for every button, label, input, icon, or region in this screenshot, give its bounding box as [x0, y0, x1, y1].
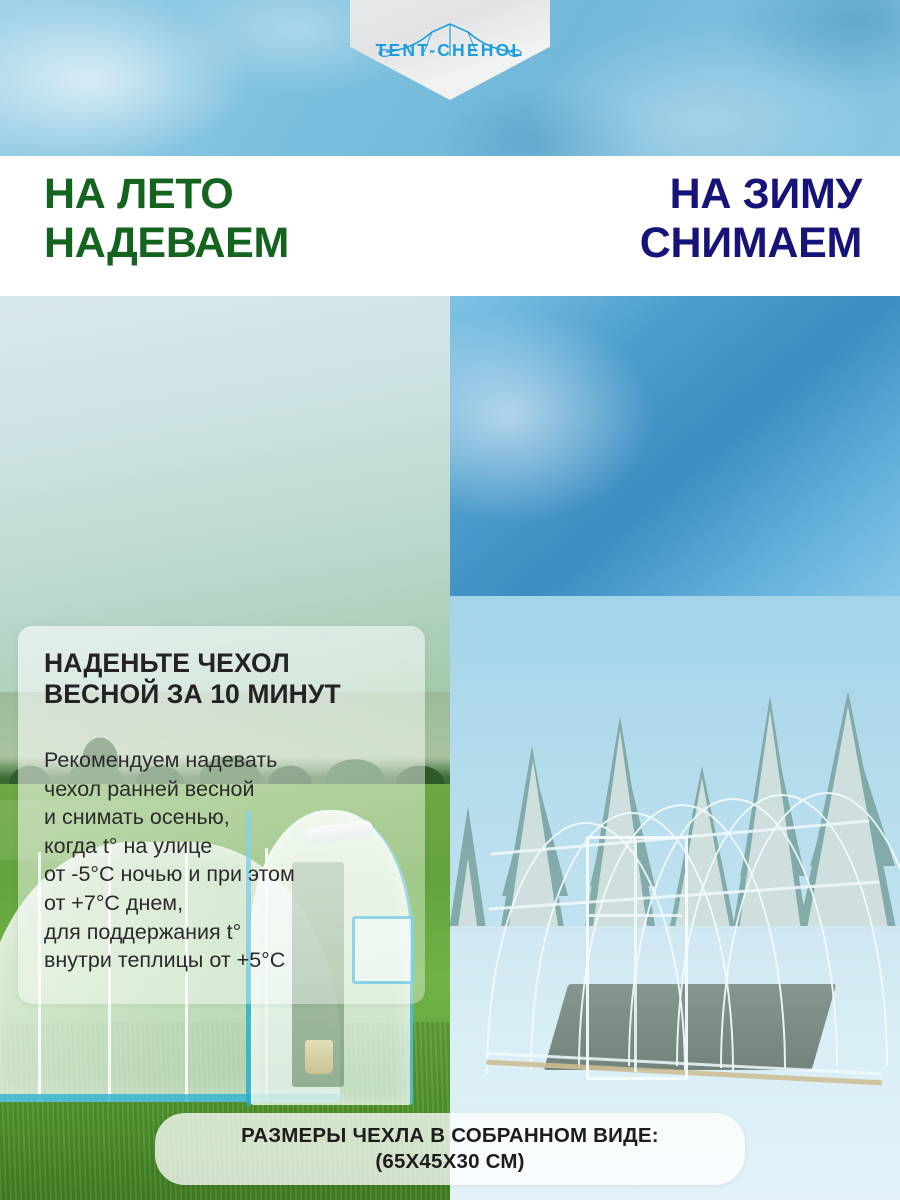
logo: TENT-CHEHOL	[350, 0, 550, 100]
panel-winter: ДЕМОНТИРУЙТЕ НА ЗИМУ Чистка снега с чехл…	[450, 296, 900, 1200]
title-summer-line2: НАДЕВАЕМ	[44, 219, 434, 268]
summer-body-line: когда t° на улице	[44, 832, 414, 861]
photo-winter-greenhouse-frame	[450, 596, 900, 1200]
card-summer-heading-line2: ВЕСНОЙ ЗА 10 МИНУТ	[44, 679, 404, 710]
summer-body-line: от -5°С ночью и при этом	[44, 860, 414, 889]
frame-door-mullion	[634, 838, 637, 1072]
summer-body-line: чехол ранней весной	[44, 775, 414, 804]
card-summer-heading: НАДЕНЬТЕ ЧЕХОЛ ВЕСНОЙ ЗА 10 МИНУТ	[44, 648, 404, 709]
dimensions-banner: РАЗМЕРЫ ЧЕХЛА В СОБРАННОМ ВИДЕ: (65X45X3…	[155, 1113, 745, 1185]
summer-body-line: от +7°С днем,	[44, 889, 414, 918]
title-winter-line2: СНИМАЕМ	[442, 219, 862, 268]
title-winter: НА ЗИМУ СНИМАЕМ	[442, 170, 862, 267]
title-summer-line1: НА ЛЕТО	[44, 170, 434, 219]
summer-body-line: и снимать осенью,	[44, 803, 414, 832]
greenhouse-metal-frame	[478, 774, 878, 1074]
dimensions-line1: РАЗМЕРЫ ЧЕХЛА В СОБРАННОМ ВИДЕ:	[241, 1123, 659, 1149]
card-summer-instructions: НАДЕНЬТЕ ЧЕХОЛ ВЕСНОЙ ЗА 10 МИНУТ Рекоме…	[18, 626, 425, 1004]
greenhouse-bucket	[305, 1040, 333, 1074]
dimensions-line2: (65X45X30 СМ)	[241, 1149, 659, 1175]
card-summer-body: Рекомендуем надевать чехол ранней весной…	[44, 746, 414, 975]
winter-sky-background	[450, 296, 900, 626]
summer-body-line: внутри теплицы от +5°С	[44, 946, 414, 975]
title-band: НА ЛЕТО НАДЕВАЕМ НА ЗИМУ СНИМАЕМ	[0, 156, 900, 296]
dimensions-banner-text: РАЗМЕРЫ ЧЕХЛА В СОБРАННОМ ВИДЕ: (65X45X3…	[241, 1123, 659, 1175]
card-summer-heading-line1: НАДЕНЬТЕ ЧЕХОЛ	[44, 648, 404, 679]
frame-door-opening	[586, 836, 688, 1080]
header-banner: TENT-CHEHOL	[0, 0, 900, 156]
summer-body-line: для поддержания t°	[44, 918, 414, 947]
title-summer: НА ЛЕТО НАДЕВАЕМ	[44, 170, 434, 267]
infographic-page: TENT-CHEHOL НА ЛЕТО НАДЕВАЕМ НА ЗИМУ СНИ…	[0, 0, 900, 1200]
title-winter-line1: НА ЗИМУ	[442, 170, 862, 219]
logo-text: TENT-CHEHOL	[350, 40, 550, 61]
summer-body-line: Рекомендуем надевать	[44, 746, 414, 775]
panel-summer: НАДЕНЬТЕ ЧЕХОЛ ВЕСНОЙ ЗА 10 МИНУТ Рекоме…	[0, 296, 450, 1200]
